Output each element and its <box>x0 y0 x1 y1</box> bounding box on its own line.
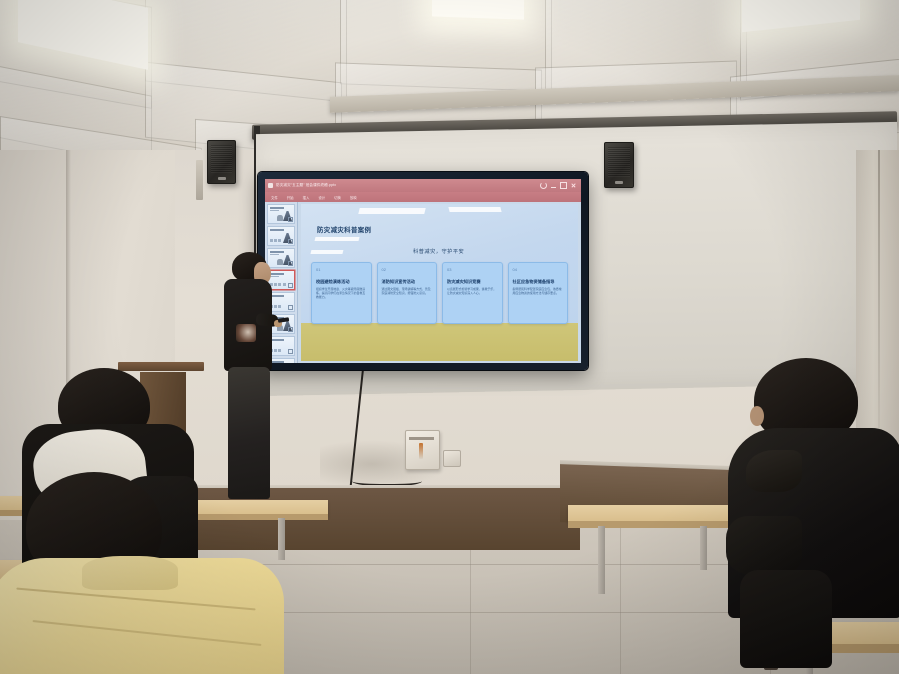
card-description: 通过图文展板、现场讲解等方式，普及家庭消防安全知识，增强防火意识。 <box>382 287 433 295</box>
classroom-presentation-photo: 防灾减灾"五主题" 班会课件终稿.pptx 文件 开始 插入 设计 切换 放映 <box>0 0 899 674</box>
wall-control-box-switch <box>419 443 423 459</box>
slide-card[interactable]: 03 防灾减灾知识竞赛 以竞赛形式检验学习成果，寓教于乐，让防灾减灾知识深入人心… <box>442 262 503 324</box>
app-menubar: 文件 开始 插入 设计 切换 放映 <box>265 192 581 202</box>
minimize-icon[interactable] <box>551 183 556 188</box>
decor-streak-3 <box>315 237 360 241</box>
card-number: 02 <box>382 267 433 272</box>
card-number: 04 <box>513 267 564 272</box>
card-description: 以竞赛形式检验学习成果，寓教于乐，让防灾减灾知识深入人心。 <box>447 287 498 295</box>
menu-item-design[interactable]: 设计 <box>318 195 325 200</box>
menu-item-file[interactable]: 文件 <box>271 195 278 200</box>
student-ear <box>750 406 764 426</box>
card-title: 消防知识宣传活动 <box>382 279 433 284</box>
slide-thumbnail[interactable] <box>267 226 295 246</box>
slide-canvas-area[interactable]: 防灾减灾科普案例 科普减灾，守护平安 01 校园避险演练活动 组织学生开展地震、… <box>298 202 581 363</box>
decor-streak-1 <box>358 208 425 214</box>
slide-card-group: 01 校园避险演练活动 组织学生开展地震、火灾等避险疏散演练，提高同学们在紧急情… <box>311 262 568 324</box>
presenter <box>216 252 288 502</box>
slide-card[interactable]: 01 校园避险演练活动 组织学生开展地震、火灾等避险疏散演练，提高同学们在紧急情… <box>311 262 372 324</box>
slide-title: 防灾减灾科普案例 <box>317 225 371 234</box>
interactive-display[interactable]: 防灾减灾"五主题" 班会课件终稿.pptx 文件 开始 插入 设计 切换 放映 <box>258 172 588 370</box>
slide-card[interactable]: 02 消防知识宣传活动 通过图文展板、现场讲解等方式，普及家庭消防安全知识，增强… <box>377 262 438 324</box>
menu-item-home[interactable]: 开始 <box>287 195 294 200</box>
menu-item-transitions[interactable]: 切换 <box>334 195 341 200</box>
card-title: 校园避险演练活动 <box>316 279 367 284</box>
card-number: 03 <box>447 267 498 272</box>
slide-card[interactable]: 04 社区应急物资储备指导 指导居民科学配置家庭应急包，熟悉常用应急物资的使用方… <box>508 262 569 324</box>
app-workspace: 防灾减灾科普案例 科普减灾，守护平安 01 校园避险演练活动 组织学生开展地震、… <box>265 202 581 363</box>
wall-strip-left <box>196 160 203 200</box>
audience-student-black-hoodie <box>692 358 899 658</box>
menu-item-slideshow[interactable]: 放映 <box>350 195 357 200</box>
right-wall-speaker <box>604 142 634 188</box>
student-leg <box>740 570 832 668</box>
card-title: 防灾减灾知识竞赛 <box>447 279 498 284</box>
close-icon[interactable] <box>571 183 576 188</box>
audience-student-yellow-puffer <box>0 472 286 674</box>
left-wall-speaker <box>207 140 236 184</box>
student-arm <box>726 516 802 574</box>
slide-bottom-band <box>301 323 578 361</box>
card-title: 社区应急物资储备指导 <box>513 279 564 284</box>
wall-control-box-label <box>409 437 434 440</box>
display-screen[interactable]: 防灾减灾"五主题" 班会课件终稿.pptx 文件 开始 插入 设计 切换 放映 <box>265 179 581 363</box>
presenter-remote <box>278 317 289 322</box>
card-description: 指导居民科学配置家庭应急包，熟悉常用应急物资的使用方法与储存要点。 <box>513 287 564 295</box>
slide-subtitle: 科普减灾，守护平安 <box>413 248 464 255</box>
window-controls <box>540 182 578 189</box>
menu-item-insert[interactable]: 插入 <box>303 195 310 200</box>
card-description: 组织学生开展地震、火灾等避险疏散演练，提高同学们在紧急情况下的自救互救能力。 <box>316 287 367 299</box>
presenter-jacket-patch <box>236 324 256 342</box>
ceiling-light-2 <box>432 0 524 20</box>
slide-thumbnail[interactable] <box>267 204 295 224</box>
decor-streak-2 <box>448 207 501 212</box>
wall-socket <box>443 450 461 467</box>
puffer-collar <box>82 556 178 590</box>
document-title: 防灾减灾"五主题" 班会课件终稿.pptx <box>276 183 336 188</box>
slide[interactable]: 防灾减灾科普案例 科普减灾，守护平安 01 校园避险演练活动 组织学生开展地震、… <box>301 204 578 361</box>
sync-icon[interactable] <box>540 182 547 189</box>
decor-streak-4 <box>311 250 344 254</box>
card-number: 01 <box>316 267 367 272</box>
student-hood-fold <box>746 450 802 492</box>
maximize-icon[interactable] <box>560 182 567 189</box>
app-logo-icon <box>268 183 273 188</box>
app-titlebar: 防灾减灾"五主题" 班会课件终稿.pptx <box>265 179 581 192</box>
